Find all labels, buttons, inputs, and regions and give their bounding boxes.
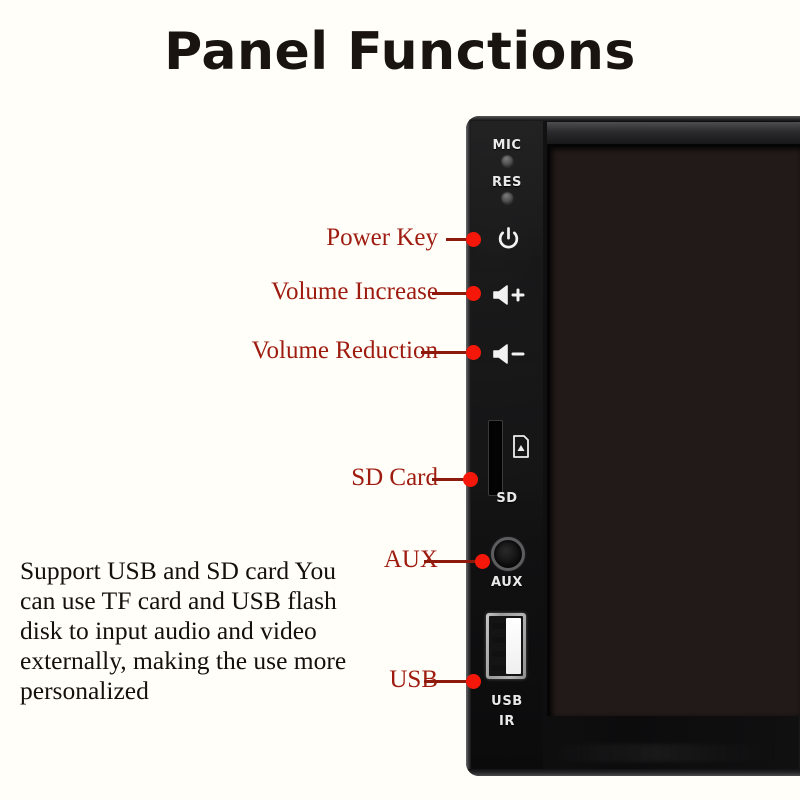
dot-power-key	[466, 232, 481, 247]
callout-volume-reduction: Volume Reduction	[252, 337, 438, 365]
description-text: Support USB and SD card You can use TF c…	[20, 556, 375, 706]
leader-aux	[424, 560, 482, 563]
callout-volume-increase: Volume Increase	[271, 278, 438, 306]
dot-sd-card	[463, 472, 478, 487]
dot-volume-increase	[466, 286, 481, 301]
dot-usb	[466, 674, 481, 689]
top-edge-chamfer	[466, 116, 800, 121]
dot-volume-reduction	[466, 345, 481, 360]
diagram-canvas: Panel Functions MIC RES	[0, 0, 800, 800]
page-title: Panel Functions	[0, 22, 800, 82]
control-column	[471, 121, 543, 769]
display-screen	[547, 144, 800, 716]
car-stereo-device	[466, 116, 800, 776]
device-body	[466, 116, 800, 776]
screen-top-bezel	[547, 122, 800, 146]
callout-sd-card: SD Card	[351, 464, 438, 492]
bottom-highlight	[547, 744, 780, 762]
dot-aux	[475, 554, 490, 569]
bottom-edge-chamfer	[466, 769, 800, 776]
callout-power-key: Power Key	[326, 224, 438, 252]
